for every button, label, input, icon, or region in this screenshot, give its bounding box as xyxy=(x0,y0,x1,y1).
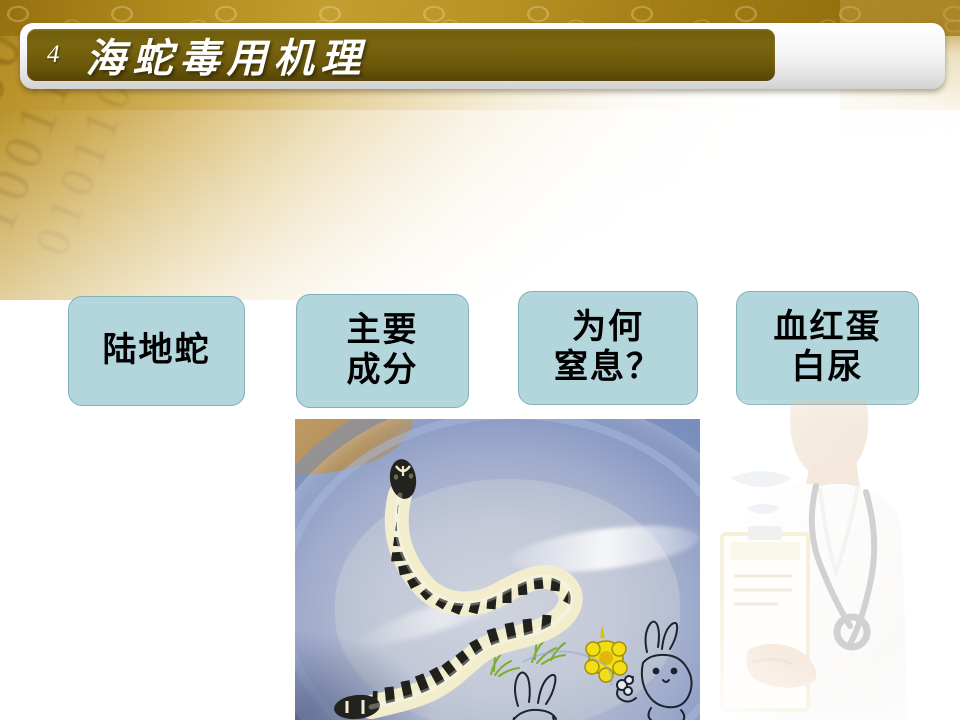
concept-box-label: 血红蛋白尿 xyxy=(774,308,882,388)
title-bar: 4 海蛇毒用机理 xyxy=(27,29,775,81)
sea-snake-photo xyxy=(295,419,700,720)
concept-box-label: 主要成分 xyxy=(347,311,419,391)
concept-box-land-snake[interactable]: 陆地蛇 xyxy=(68,296,245,406)
concept-box-label: 为何窒息？ xyxy=(554,308,662,388)
concept-box-why-asphyxia[interactable]: 为何窒息？ xyxy=(518,291,698,405)
concept-box-hemoglobinuria[interactable]: 血红蛋白尿 xyxy=(736,291,919,405)
concept-box-main-components[interactable]: 主要成分 xyxy=(296,294,469,408)
title-banner: 4 海蛇毒用机理 xyxy=(20,23,945,89)
page-title: 海蛇毒用机理 xyxy=(86,29,368,81)
slide-canvas: 0110011010 1001100101 0101100110 4 海蛇毒用机… xyxy=(0,0,960,720)
doctor-watermark-image xyxy=(700,400,960,720)
title-number: 4 xyxy=(47,41,60,69)
concept-box-label: 陆地蛇 xyxy=(103,331,211,371)
sea-snake-illustration xyxy=(295,419,700,720)
